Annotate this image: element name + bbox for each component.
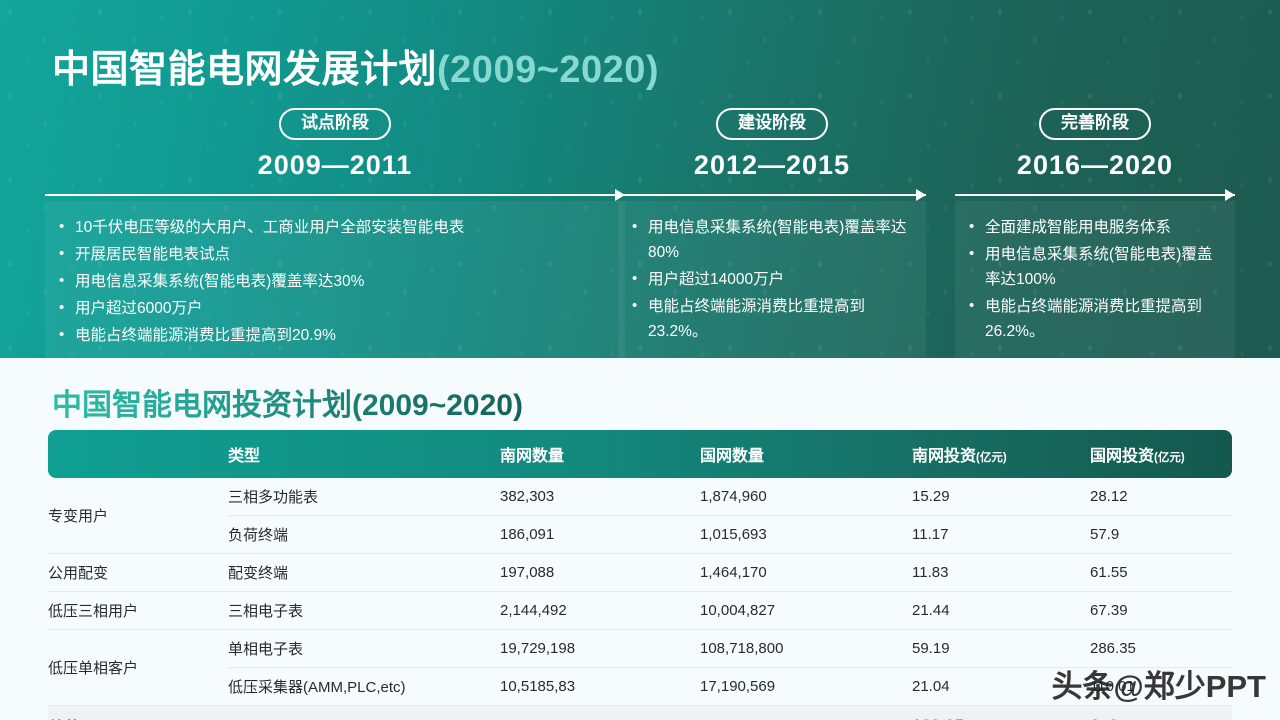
phase-bullet-list-2: 用电信息采集系统(智能电表)覆盖率达80% 用户超过14000万户 电能占终端能… <box>626 215 918 345</box>
row-group-label: 低压三相用户 <box>48 592 228 630</box>
cell-nan-invest: 21.04 <box>912 668 1090 706</box>
guo-invest-label: 国网投资 <box>1090 448 1154 465</box>
arrow-line-1 <box>45 194 625 196</box>
phase-badge-3: 完善阶段 <box>1039 108 1151 140</box>
cell-type: 低压采集器(AMM,PLC,etc) <box>228 668 500 706</box>
column-header-guo-invest: 国网投资(亿元) <box>1090 430 1232 478</box>
cell-nan-invest: 11.17 <box>912 516 1090 554</box>
page-title-years: (2009~2020) <box>437 49 659 91</box>
cell-guo-count: 1,015,693 <box>700 516 912 554</box>
table-row: 公用配变 配变终端 197,088 1,464,170 11.83 61.55 <box>48 554 1232 592</box>
phase-badge-wrap-2: 建设阶段 <box>618 108 926 140</box>
phase-badge-1: 试点阶段 <box>279 108 391 140</box>
column-header-guo-count: 国网数量 <box>700 430 912 478</box>
table-row: 专变用户 三相多功能表 382,303 1,874,960 15.29 28.1… <box>48 478 1232 516</box>
arrow-line-3 <box>955 194 1235 196</box>
list-item: 电能占终端能源消费比重提高到20.9% <box>53 323 617 348</box>
phase-arrow-2 <box>618 189 926 201</box>
total-guo-count-spacer <box>700 706 912 720</box>
cell-type: 单相电子表 <box>228 630 500 668</box>
phase-badge-2: 建设阶段 <box>716 108 828 140</box>
list-item: 用户超过14000万户 <box>626 267 918 292</box>
phase-year-2: 2012—2015 <box>618 150 926 181</box>
cell-nan-count: 10,5185,83 <box>500 668 700 706</box>
table-total-row: 总共 139.95 6 .3 <box>48 706 1232 720</box>
total-label: 总共 <box>48 706 228 720</box>
list-item: 开展居民智能电表试点 <box>53 242 617 267</box>
phase-column-1: 试点阶段 2009—2011 10千伏电压等级的大用户、工商业用户全部安装智能电… <box>45 108 625 358</box>
column-header-type: 类型 <box>228 430 500 478</box>
arrow-line-2 <box>618 194 926 196</box>
list-item: 电能占终端能源消费比重提高到23.2%。 <box>626 294 918 344</box>
list-item: 电能占终端能源消费比重提高到26.2%。 <box>963 294 1227 344</box>
table-row: 低压三相用户 三相电子表 2,144,492 10,004,827 21.44 … <box>48 592 1232 630</box>
phase-column-2: 建设阶段 2012—2015 用电信息采集系统(智能电表)覆盖率达80% 用户超… <box>618 108 926 358</box>
table-header-row: 类型 南网数量 国网数量 南网投资(亿元) 国网投资(亿元) <box>48 430 1232 478</box>
phase-column-3: 完善阶段 2016—2020 全面建成智能用电服务体系 用电信息采集系统(智能电… <box>955 108 1235 358</box>
list-item: 用电信息采集系统(智能电表)覆盖率达100% <box>963 242 1227 292</box>
development-plan-panel: 中国智能电网发展计划(2009~2020) 试点阶段 2009—2011 10千… <box>0 0 1280 358</box>
section-title-text: 中国智能电网投资计划 <box>52 389 352 422</box>
slide-canvas: 中国智能电网发展计划(2009~2020) 试点阶段 2009—2011 10千… <box>0 0 1280 720</box>
total-nan-count-spacer <box>500 706 700 720</box>
row-group-label: 专变用户 <box>48 478 228 554</box>
cell-type: 三相电子表 <box>228 592 500 630</box>
total-guo-invest: 6 .3 <box>1090 706 1232 720</box>
row-group-label: 低压单相客户 <box>48 630 228 706</box>
nan-invest-unit: (亿元) <box>976 452 1007 464</box>
nan-invest-label: 南网投资 <box>912 448 976 465</box>
row-group-label: 公用配变 <box>48 554 228 592</box>
list-item: 用电信息采集系统(智能电表)覆盖率达30% <box>53 269 617 294</box>
cell-guo-invest: 57.9 <box>1090 516 1232 554</box>
phase-arrow-3 <box>955 189 1235 201</box>
column-header-nan-count: 南网数量 <box>500 430 700 478</box>
cell-type: 三相多功能表 <box>228 478 500 516</box>
cell-nan-count: 2,144,492 <box>500 592 700 630</box>
cell-guo-count: 1,464,170 <box>700 554 912 592</box>
cell-nan-invest: 21.44 <box>912 592 1090 630</box>
cell-guo-invest: 28.12 <box>1090 478 1232 516</box>
phase-arrow-1 <box>45 189 625 201</box>
cell-type: 配变终端 <box>228 554 500 592</box>
cell-type: 负荷终端 <box>228 516 500 554</box>
phase-year-1: 2009—2011 <box>45 150 625 181</box>
total-nan-invest: 139.95 <box>912 706 1090 720</box>
phase-badge-wrap-1: 试点阶段 <box>45 108 625 140</box>
cell-guo-count: 10,004,827 <box>700 592 912 630</box>
section-title: 中国智能电网投资计划(2009~2020) <box>52 380 523 424</box>
list-item: 全面建成智能用电服务体系 <box>963 215 1227 240</box>
section-title-years: (2009~2020) <box>352 389 523 422</box>
total-type-spacer <box>228 706 500 720</box>
list-item: 10千伏电压等级的大用户、工商业用户全部安装智能电表 <box>53 215 617 240</box>
phase-bullet-list-3: 全面建成智能用电服务体系 用电信息采集系统(智能电表)覆盖率达100% 电能占终… <box>963 215 1227 345</box>
column-header-group <box>48 430 228 478</box>
cell-nan-invest: 11.83 <box>912 554 1090 592</box>
cell-nan-invest: 59.19 <box>912 630 1090 668</box>
cell-guo-invest: 286.35 <box>1090 630 1232 668</box>
cell-guo-count: 17,190,569 <box>700 668 912 706</box>
cell-nan-count: 197,088 <box>500 554 700 592</box>
cell-guo-count: 108,718,800 <box>700 630 912 668</box>
phase-body-2: 用电信息采集系统(智能电表)覆盖率达80% 用户超过14000万户 电能占终端能… <box>618 201 926 358</box>
arrow-head-icon-3 <box>1225 189 1235 201</box>
phase-body-3: 全面建成智能用电服务体系 用电信息采集系统(智能电表)覆盖率达100% 电能占终… <box>955 201 1235 358</box>
table-body: 专变用户 三相多功能表 382,303 1,874,960 15.29 28.1… <box>48 478 1232 720</box>
guo-invest-unit: (亿元) <box>1154 452 1185 464</box>
investment-table: 类型 南网数量 国网数量 南网投资(亿元) 国网投资(亿元) 专变用户 三相多功… <box>48 430 1232 720</box>
phase-year-3: 2016—2020 <box>955 150 1235 181</box>
phase-bullet-list-1: 10千伏电压等级的大用户、工商业用户全部安装智能电表 开展居民智能电表试点 用电… <box>53 215 617 349</box>
phase-body-1: 10千伏电压等级的大用户、工商业用户全部安装智能电表 开展居民智能电表试点 用电… <box>45 201 625 358</box>
cell-nan-count: 19,729,198 <box>500 630 700 668</box>
table-head: 类型 南网数量 国网数量 南网投资(亿元) 国网投资(亿元) <box>48 430 1232 478</box>
table-row: 低压单相客户 单相电子表 19,729,198 108,718,800 59.1… <box>48 630 1232 668</box>
investment-plan-panel: 中国智能电网投资计划(2009~2020) 类型 南网数量 国网数量 南网投资(… <box>0 358 1280 720</box>
page-title-text: 中国智能电网发展计划 <box>52 49 437 91</box>
cell-nan-invest: 15.29 <box>912 478 1090 516</box>
phase-badge-wrap-3: 完善阶段 <box>955 108 1235 140</box>
cell-guo-invest: 61.55 <box>1090 554 1232 592</box>
page-title: 中国智能电网发展计划(2009~2020) <box>52 38 659 93</box>
list-item: 用户超过6000万户 <box>53 296 617 321</box>
list-item: 用电信息采集系统(智能电表)覆盖率达80% <box>626 215 918 265</box>
cell-guo-count: 1,874,960 <box>700 478 912 516</box>
cell-guo-invest: 110.01 <box>1090 668 1232 706</box>
arrow-head-icon-2 <box>916 189 926 201</box>
column-header-nan-invest: 南网投资(亿元) <box>912 430 1090 478</box>
cell-nan-count: 382,303 <box>500 478 700 516</box>
cell-nan-count: 186,091 <box>500 516 700 554</box>
cell-guo-invest: 67.39 <box>1090 592 1232 630</box>
